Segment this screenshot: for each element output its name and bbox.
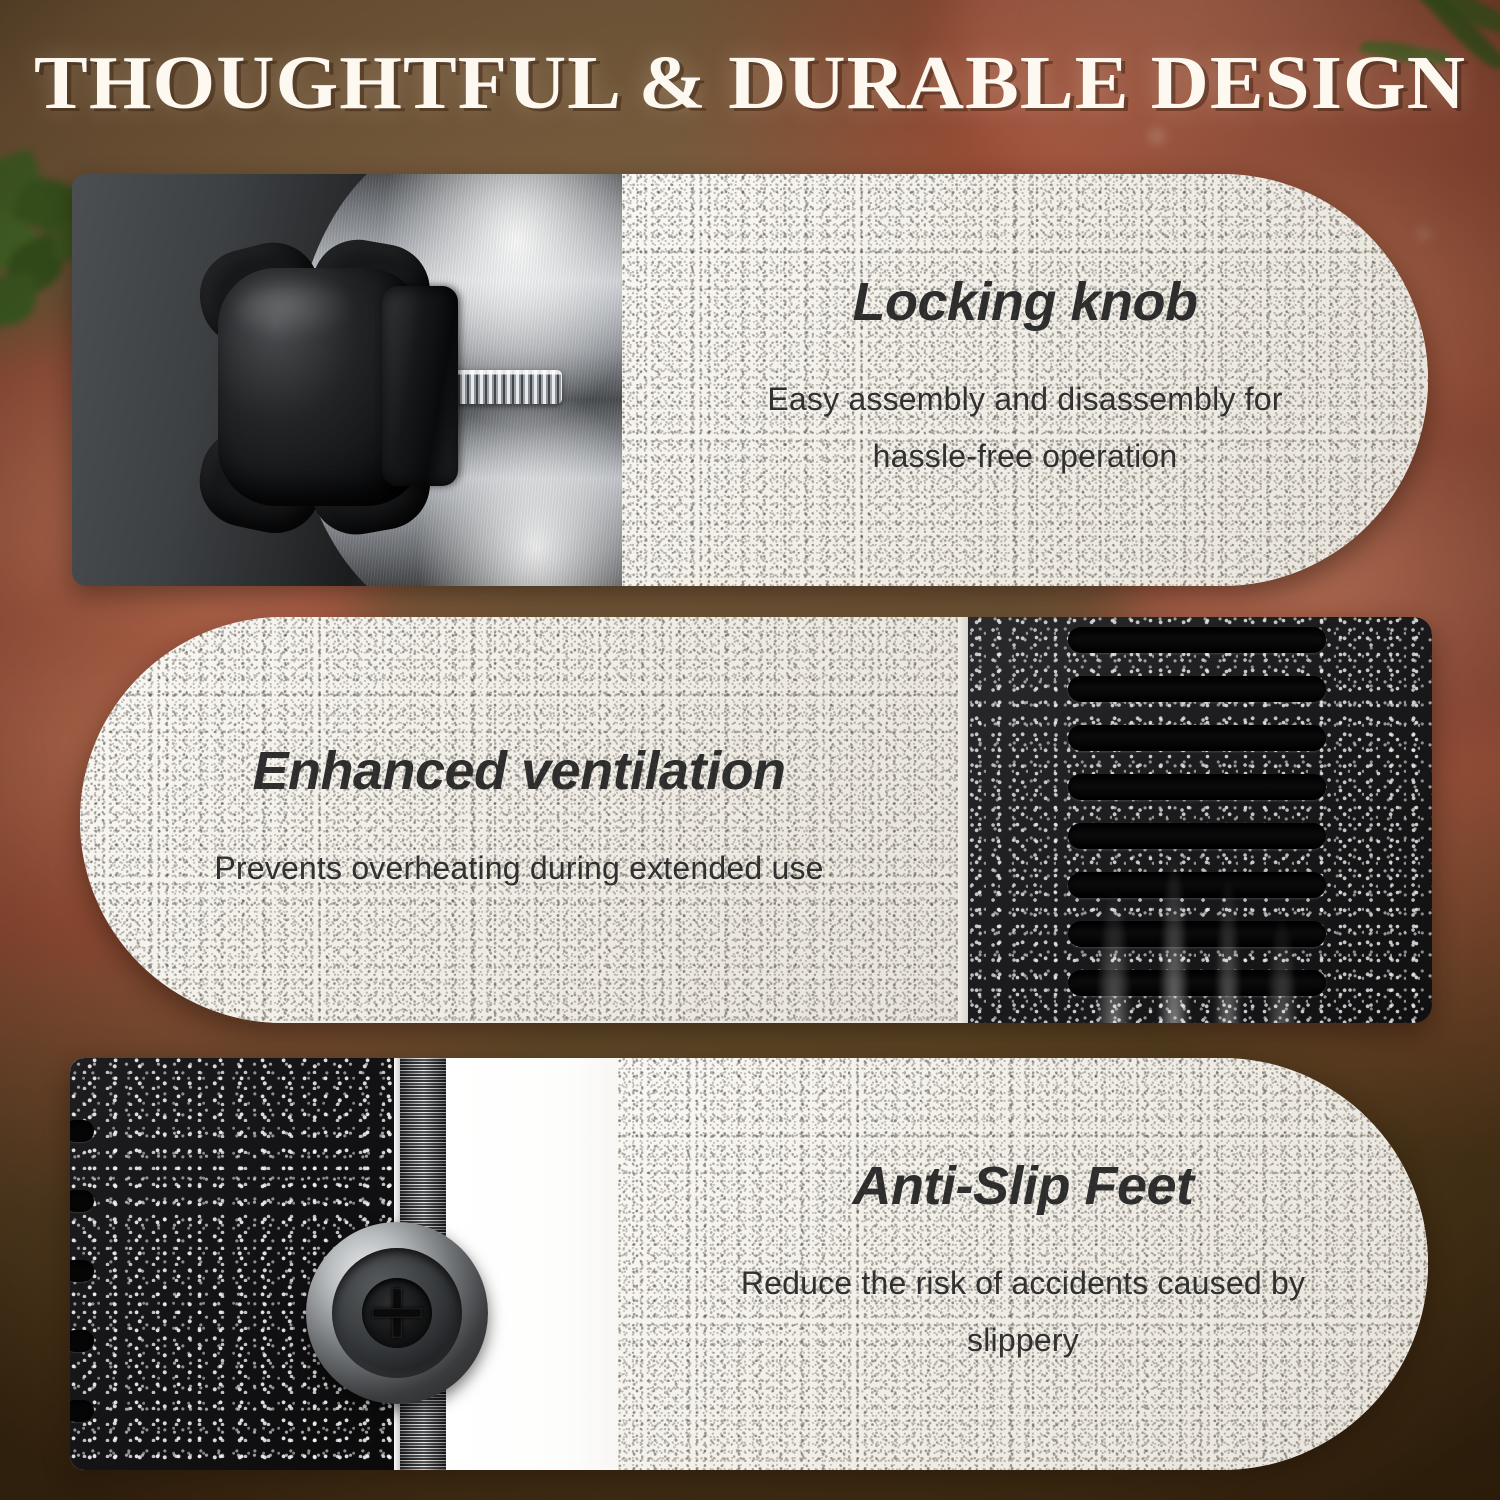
panel-edge-highlight	[958, 617, 968, 1023]
feature-card-enhanced-ventilation: Enhanced ventilation Prevents overheatin…	[80, 617, 1432, 1023]
accent-dot-icon	[222, 735, 290, 803]
card-body-line: Easy assembly and disassembly for	[767, 371, 1282, 428]
vent-slot	[1068, 774, 1326, 800]
page-title: THOUGHTFUL & DURABLE DESIGN	[0, 40, 1500, 127]
vent-slot	[1068, 627, 1326, 653]
card-body: Reduce the risk of accidents caused by s…	[741, 1255, 1305, 1369]
card-text-panel: Enhanced ventilation Prevents overheatin…	[80, 617, 958, 1023]
card-text-panel: Anti-Slip Feet Reduce the risk of accide…	[618, 1058, 1428, 1470]
rubber-foot-graphic	[306, 1222, 488, 1404]
vent-slot	[70, 1400, 94, 1422]
vent-slot	[70, 1330, 94, 1352]
card-heading-text: Enhanced ventilation	[252, 741, 785, 801]
feature-card-anti-slip-feet: Anti-Slip Feet Reduce the risk of accide…	[70, 1058, 1428, 1470]
card-body-line: slippery	[741, 1312, 1305, 1369]
vent-slot	[1068, 725, 1326, 751]
card-heading-text: Anti-Slip Feet	[853, 1156, 1194, 1216]
vent-slot	[1068, 676, 1326, 702]
card-heading-text: Locking knob	[853, 272, 1198, 332]
accent-dot-icon	[823, 1151, 891, 1219]
accent-dot-icon	[823, 267, 891, 335]
card-heading: Locking knob	[853, 275, 1198, 329]
vent-slot	[70, 1190, 94, 1212]
vent-slot	[70, 1120, 94, 1142]
vent-slot	[1068, 921, 1326, 947]
ventilation-grille-photo	[958, 617, 1432, 1023]
knob-graphic	[200, 242, 438, 532]
card-body: Easy assembly and disassembly for hassle…	[767, 371, 1282, 485]
card-body-line: hassle-free operation	[767, 428, 1282, 485]
card-body-line: Reduce the risk of accidents caused by	[741, 1255, 1305, 1312]
card-body-line: Prevents overheating during extended use	[214, 840, 823, 897]
vent-slot	[1068, 823, 1326, 849]
phillips-screw-icon	[372, 1308, 422, 1318]
card-body: Prevents overheating during extended use	[214, 840, 823, 897]
vent-slot	[1068, 872, 1326, 898]
vent-slot	[70, 1260, 94, 1282]
card-heading: Enhanced ventilation	[252, 744, 785, 798]
anti-slip-foot-photo	[70, 1058, 618, 1470]
card-heading: Anti-Slip Feet	[853, 1159, 1194, 1213]
card-text-panel: Locking knob Easy assembly and disassemb…	[622, 174, 1428, 586]
feature-card-locking-knob: Locking knob Easy assembly and disassemb…	[72, 174, 1428, 586]
locking-knob-photo	[72, 174, 622, 586]
vent-slot	[1068, 970, 1326, 996]
